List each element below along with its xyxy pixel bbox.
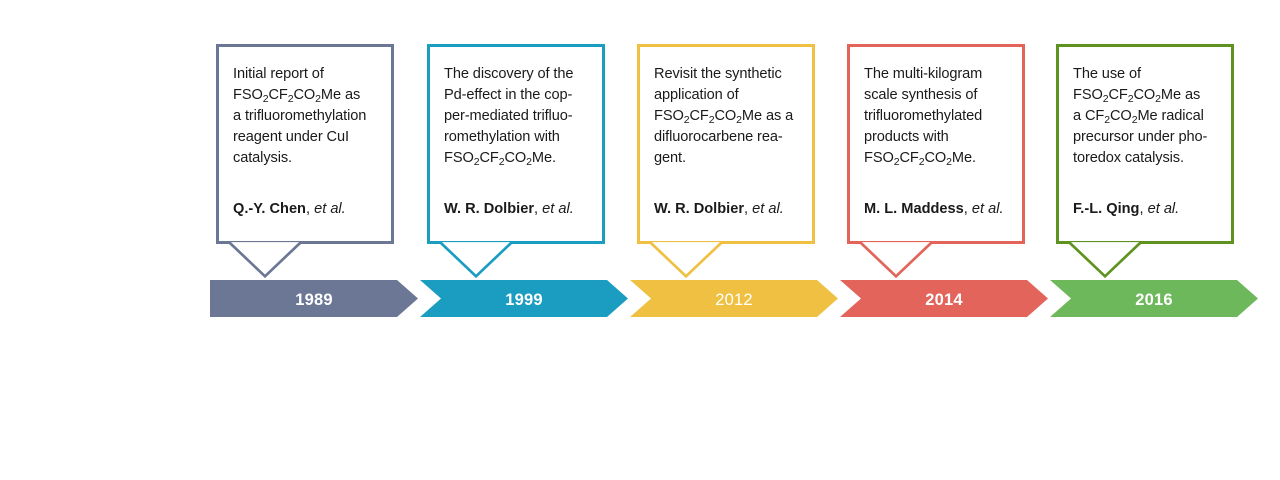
milestone-card-2012: Revisit the syntheticapplication ofFSO2C… — [637, 44, 815, 244]
description-line: difluorocarbene rea- — [654, 127, 798, 148]
description-line: catalysis. — [233, 148, 377, 169]
description-line: The multi-kilogram — [864, 64, 1008, 85]
milestone-description: Revisit the syntheticapplication ofFSO2C… — [654, 64, 798, 169]
year-label-2016: 2016 — [1050, 289, 1258, 311]
milestone-card-1999: The discovery of thePd-effect in the cop… — [427, 44, 605, 244]
author-etal: et al. — [752, 201, 784, 217]
timeline-diagram: Initial report ofFSO2CF2CO2Me asa triflu… — [0, 0, 1280, 480]
milestone-card-2016: The use ofFSO2CF2CO2Me asa CF2CO2Me radi… — [1056, 44, 1234, 244]
milestone-description: The use ofFSO2CF2CO2Me asa CF2CO2Me radi… — [1073, 64, 1217, 169]
description-line: reagent under CuI — [233, 127, 377, 148]
milestone-description: The discovery of thePd-effect in the cop… — [444, 64, 588, 169]
milestone-author: W. R. Dolbier, et al. — [444, 200, 574, 219]
card-pointer-notch — [650, 241, 722, 281]
milestone-card-1989: Initial report ofFSO2CF2CO2Me asa triflu… — [216, 44, 394, 244]
milestone-author: Q.-Y. Chen, et al. — [233, 200, 346, 219]
year-label-1989: 1989 — [210, 289, 418, 311]
card-pointer-notch — [440, 241, 512, 281]
card-pointer-notch — [229, 241, 301, 281]
milestone-author: F.-L. Qing, et al. — [1073, 200, 1179, 219]
description-line: FSO2CF2CO2Me. — [444, 148, 588, 169]
author-separator: , — [534, 201, 542, 217]
description-line: The use of — [1073, 64, 1217, 85]
author-separator: , — [306, 201, 314, 217]
milestone-card-2014: The multi-kilogramscale synthesis oftrif… — [847, 44, 1025, 244]
description-line: trifluoromethylated — [864, 106, 1008, 127]
description-line: FSO2CF2CO2Me. — [864, 148, 1008, 169]
description-line: a CF2CO2Me radical — [1073, 106, 1217, 127]
description-line: a trifluoromethylation — [233, 106, 377, 127]
description-line: FSO2CF2CO2Me as — [233, 85, 377, 106]
description-line: Initial report of — [233, 64, 377, 85]
description-line: FSO2CF2CO2Me as a — [654, 106, 798, 127]
description-line: per-mediated trifluo- — [444, 106, 588, 127]
description-line: Pd-effect in the cop- — [444, 85, 588, 106]
description-line: toredox catalysis. — [1073, 148, 1217, 169]
author-etal: et al. — [314, 201, 346, 217]
author-name: W. R. Dolbier — [444, 201, 534, 217]
card-pointer-notch — [1069, 241, 1141, 281]
author-name: F.-L. Qing — [1073, 201, 1139, 217]
author-separator: , — [964, 201, 972, 217]
description-line: romethylation with — [444, 127, 588, 148]
description-line: products with — [864, 127, 1008, 148]
author-etal: et al. — [1148, 201, 1180, 217]
milestone-author: W. R. Dolbier, et al. — [654, 200, 784, 219]
description-line: scale synthesis of — [864, 85, 1008, 106]
milestone-description: Initial report ofFSO2CF2CO2Me asa triflu… — [233, 64, 377, 169]
author-name: Q.-Y. Chen — [233, 201, 306, 217]
year-label-2012: 2012 — [630, 289, 838, 311]
milestone-author: M. L. Maddess, et al. — [864, 200, 1004, 219]
description-line: precursor under pho- — [1073, 127, 1217, 148]
author-etal: et al. — [542, 201, 574, 217]
description-line: Revisit the synthetic — [654, 64, 798, 85]
description-line: The discovery of the — [444, 64, 588, 85]
milestone-description: The multi-kilogramscale synthesis oftrif… — [864, 64, 1008, 169]
year-label-1999: 1999 — [420, 289, 628, 311]
year-label-2014: 2014 — [840, 289, 1048, 311]
author-etal: et al. — [972, 201, 1004, 217]
author-separator: , — [744, 201, 752, 217]
card-pointer-notch — [860, 241, 932, 281]
description-line: FSO2CF2CO2Me as — [1073, 85, 1217, 106]
author-name: W. R. Dolbier — [654, 201, 744, 217]
author-name: M. L. Maddess — [864, 201, 964, 217]
author-separator: , — [1139, 201, 1147, 217]
description-line: application of — [654, 85, 798, 106]
description-line: gent. — [654, 148, 798, 169]
